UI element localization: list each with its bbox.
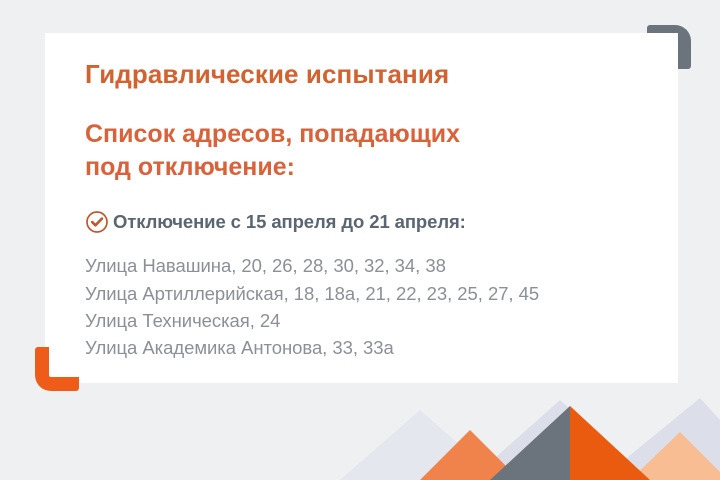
notice-row: Отключение с 15 апреля до 21 апреля:	[85, 210, 638, 234]
content-card: Гидравлические испытания Список адресов,…	[45, 33, 678, 383]
triangle-orange-light	[630, 432, 720, 480]
triangle-band-decoration	[0, 390, 720, 480]
page-title: Гидравлические испытания	[85, 59, 638, 90]
triangle-orange-mid	[520, 426, 640, 480]
poster-canvas: Гидравлические испытания Список адресов,…	[0, 0, 720, 480]
address-item: Улица Академика Антонова, 33, 33а	[85, 334, 638, 361]
triangle-lavender-left	[340, 410, 500, 480]
address-list: Улица Навашина, 20, 26, 28, 30, 32, 34, …	[85, 252, 638, 362]
triangle-orange-left	[420, 430, 520, 480]
triangle-gray-peak	[490, 406, 570, 480]
page-subtitle: Список адресов, попадающих под отключени…	[85, 118, 638, 184]
address-item: Улица Навашина, 20, 26, 28, 30, 32, 34, …	[85, 252, 638, 279]
triangle-lavender-right	[600, 398, 720, 480]
address-item: Улица Артиллерийская, 18, 18а, 21, 22, 2…	[85, 280, 638, 307]
triangle-lavender-mid	[470, 400, 650, 480]
notice-text: Отключение с 15 апреля до 21 апреля:	[113, 211, 466, 233]
page-subtitle-line-1: Список адресов, попадающих	[85, 118, 638, 151]
page-subtitle-line-2: под отключение:	[85, 151, 638, 184]
address-item: Улица Техническая, 24	[85, 307, 638, 334]
triangle-orange-peak	[570, 406, 650, 480]
corner-bracket-orange-icon	[35, 347, 79, 391]
check-circle-icon	[85, 210, 109, 234]
